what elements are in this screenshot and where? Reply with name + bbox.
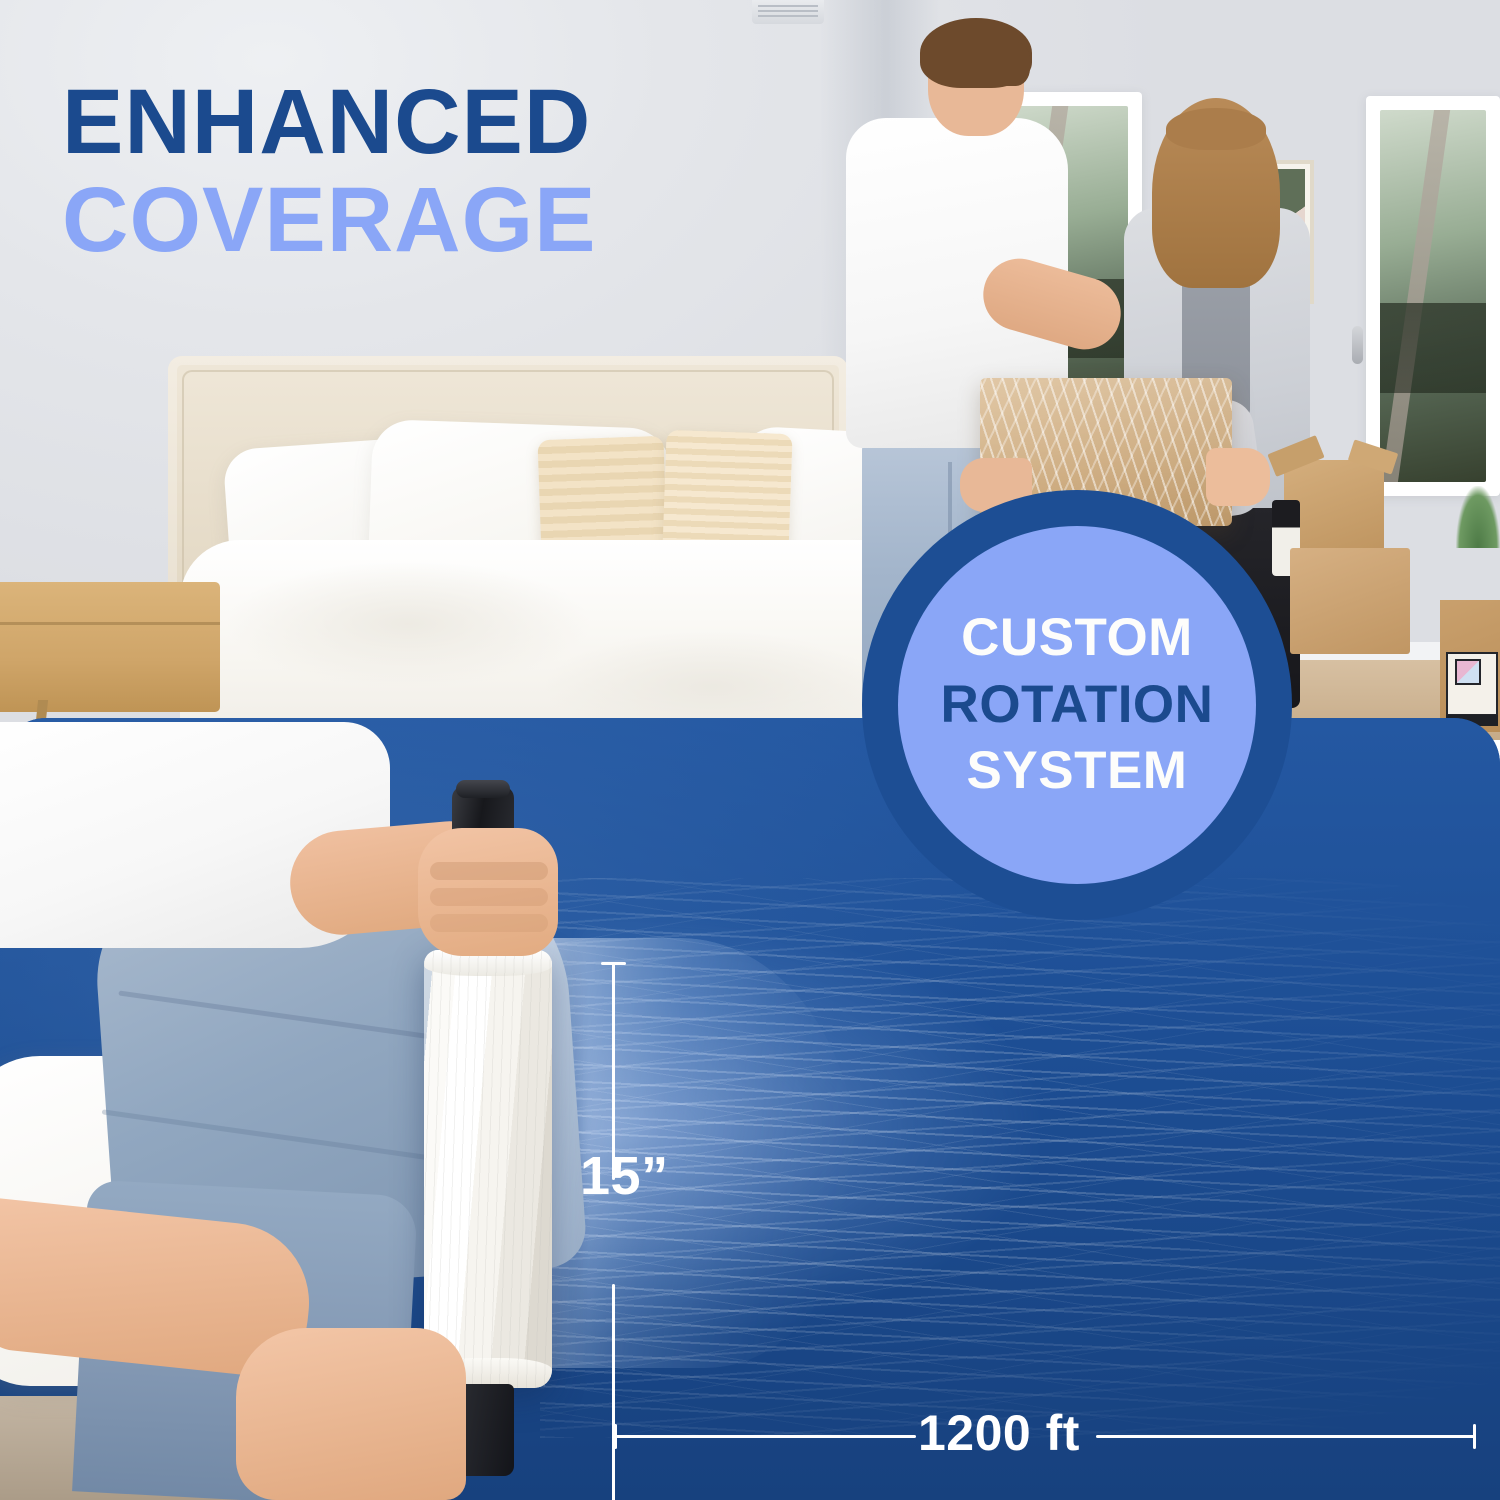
product-infographic-poster: ENHANCED COVERAGE CUSTOM ROTATION SYSTEM… (0, 0, 1500, 1500)
width-dimension-label: 1200 ft (918, 1404, 1080, 1462)
page-title: ENHANCED COVERAGE (62, 74, 597, 269)
plant (1456, 486, 1500, 548)
custom-rotation-system-badge: CUSTOM ROTATION SYSTEM (862, 490, 1292, 920)
dimension-segment-bottom (612, 1284, 615, 1500)
roll-surface-texture (424, 950, 552, 1388)
dimension-segment-right (1096, 1435, 1476, 1438)
bed-duvet (180, 540, 940, 740)
box-label-tag (1446, 652, 1498, 716)
woman-hair (1152, 98, 1280, 288)
headline-line-1: ENHANCED (62, 74, 597, 172)
badge-line-2: ROTATION (941, 674, 1214, 737)
window-glass (1380, 110, 1486, 482)
dimension-cap-right (1473, 1424, 1476, 1449)
badge-line-1: CUSTOM (961, 607, 1193, 670)
headline-line-2: COVERAGE (62, 172, 597, 270)
man-hair (920, 18, 1032, 88)
dimension-segment-left (614, 1435, 916, 1438)
window-handle (1352, 326, 1363, 364)
window-right (1366, 96, 1500, 496)
stacked-moving-boxes (1290, 548, 1410, 654)
badge-line-3: SYSTEM (967, 740, 1188, 803)
height-dimension-label: 15” (580, 1145, 669, 1207)
badge-inner-circle: CUSTOM ROTATION SYSTEM (898, 526, 1256, 884)
packaging-labeled-box (1440, 600, 1500, 732)
hand-gripping-core (236, 1328, 466, 1500)
ceiling-vent (752, 0, 824, 24)
hand-gripping-handle (418, 828, 558, 956)
wooden-nightstand (0, 582, 220, 712)
